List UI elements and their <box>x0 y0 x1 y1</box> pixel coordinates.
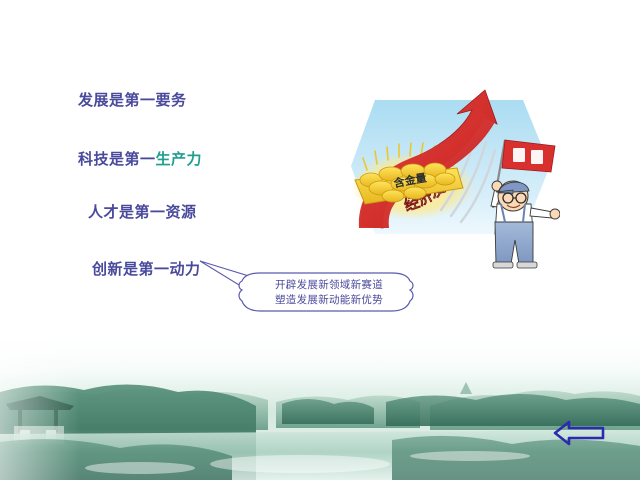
footer-left-fade <box>0 330 80 480</box>
bullet-line-development: 发展是第一要务 <box>78 89 187 110</box>
worker-overalls <box>495 222 533 264</box>
footer-landscape <box>0 330 640 480</box>
bullet-line-innovation: 创新是第一动力 <box>92 258 201 279</box>
red-flag <box>502 140 555 172</box>
footer-top-fade <box>0 330 640 382</box>
callout-line-2: 塑造发展新动能新优势 <box>254 293 404 308</box>
bullet-line-talent: 人才是第一资源 <box>88 201 197 222</box>
worker-figure <box>491 140 560 268</box>
slide-canvas: 发展是第一要务 科技是第一生产力 人才是第一资源 创新是第一动力 开辟发展新领域… <box>0 0 640 480</box>
back-arrow-icon <box>555 422 603 444</box>
footer-landscape-image <box>0 330 640 480</box>
economic-development-illustration: 经济发展 含金量 <box>345 88 560 270</box>
bullet-technology-prefix: 科技是第一 <box>78 150 156 168</box>
worker-shoe-right <box>517 262 537 268</box>
worker-shoe-left <box>493 262 513 268</box>
back-arrow-button[interactable] <box>553 418 605 448</box>
worker-right-arm <box>530 208 553 218</box>
bullet-line-technology: 科技是第一生产力 <box>78 148 202 169</box>
bullet-technology-highlight: 生产力 <box>156 150 203 168</box>
callout-line-1: 开辟发展新领域新赛道 <box>254 278 404 293</box>
worker-right-hand <box>550 209 560 219</box>
callout-text: 开辟发展新领域新赛道 塑造发展新动能新优势 <box>254 278 404 308</box>
